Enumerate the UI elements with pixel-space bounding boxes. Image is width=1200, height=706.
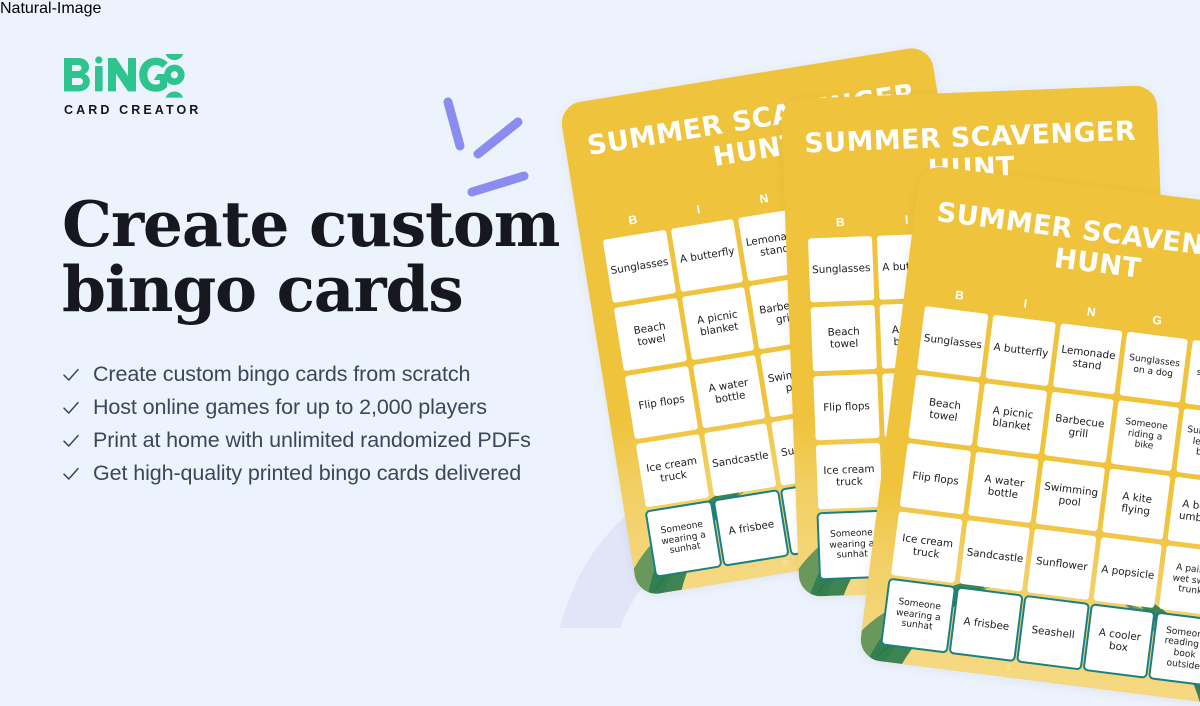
bingo-cell: Sunglasses (808, 236, 875, 302)
bingo-cell: Sandcastle (960, 520, 1031, 591)
bingo-header-letter: I (992, 293, 1060, 315)
bingo-cell: Beach towel (908, 375, 980, 447)
bingo-cell: Sunglasses (917, 306, 989, 378)
bingo-cell: A pair of wet swim trunks (1159, 545, 1200, 616)
bingo-cell: Lemonade stand (1053, 323, 1122, 394)
hero-content: CARD CREATOR Create custom bingo cards C… (62, 54, 662, 490)
page-title: Create custom bingo cards (62, 192, 582, 322)
bingo-cell: Someone wearing a sunhat (647, 502, 721, 575)
bingo-cell: A frisbee (951, 589, 1022, 660)
feature-label: Get high-quality printed bingo cards del… (93, 461, 521, 486)
bingo-cell: Someone wearing a sunhat (882, 580, 954, 652)
sparkle-icon (420, 84, 540, 204)
bingo-header-letter: B (807, 214, 874, 231)
bingo-grid: SunglassesA butterflyLemonade standSungl… (882, 306, 1200, 685)
feature-label: Create custom bingo cards from scratch (93, 362, 470, 387)
bingo-cell: Flip flops (813, 374, 880, 440)
feature-item: Print at home with unlimited randomized … (62, 424, 662, 457)
bingo-cell: Ice cream truck (891, 511, 963, 583)
bingo-cell: Sandcastle (704, 423, 776, 496)
bingo-cell: Flip flops (900, 443, 972, 515)
brand-tagline: CARD CREATOR (64, 103, 262, 117)
bingo-header-letter: I (665, 197, 733, 221)
check-icon (62, 432, 80, 450)
bingo-cell: Barbecue grill (1044, 392, 1113, 463)
bingo-cell: Someone reading a book outside (1151, 614, 1200, 685)
bingo-card-front: SUMMER SCAVENGER HUNT BINGO SunglassesA … (858, 164, 1200, 705)
bingo-cell: Someone with sunscreen on their nose (1185, 340, 1200, 411)
feature-label: Host online games for up to 2,000 player… (93, 395, 487, 420)
bingo-cell: A picnic blanket (977, 383, 1048, 454)
bingo-cell: A popsicle (1093, 537, 1162, 608)
feature-label: Print at home with unlimited randomized … (93, 428, 531, 453)
bingo-cell: Ice cream truck (816, 443, 883, 509)
bingo-cell: Swimming pool (1036, 460, 1105, 531)
bingo-cell: A frisbee (715, 491, 787, 564)
check-icon (62, 399, 80, 417)
bingo-cell: A water bottle (693, 355, 765, 428)
bingo-header-letter: O (1189, 318, 1200, 340)
bingo-cell: A picnic blanket (682, 287, 754, 360)
bingo-cell: A beach umbrella (1168, 477, 1200, 548)
feature-list: Create custom bingo cards from scratchHo… (62, 358, 662, 490)
bingo-cell: Sunglasses left on a bench (1177, 408, 1200, 479)
bingo-cell: A kite flying (1102, 469, 1171, 540)
headline-line-2: bingo cards (62, 257, 582, 322)
bingo-cell: A butterfly (671, 219, 743, 292)
check-icon (62, 366, 80, 384)
bingo-header-letter: N (1058, 301, 1126, 323)
bingo-cell: A water bottle (968, 452, 1039, 523)
bingo-cell: Beach towel (811, 305, 878, 371)
bingo-cell: A cooler box (1085, 605, 1154, 676)
bingo-header-letter: G (1124, 309, 1192, 331)
brand-logo[interactable]: CARD CREATOR (62, 54, 262, 130)
bingo-wordmark-icon (62, 54, 188, 98)
bingo-header-letter: B (926, 284, 994, 306)
feature-item: Create custom bingo cards from scratch (62, 358, 662, 391)
bingo-cell: A butterfly (986, 315, 1057, 386)
bingo-cell: Someone riding a bike (1111, 400, 1180, 471)
bingo-cell: Sunglasses on a dog (1119, 332, 1188, 403)
feature-item: Host online games for up to 2,000 player… (62, 391, 662, 424)
feature-item: Get high-quality printed bingo cards del… (62, 457, 662, 490)
bingo-cell: Seashell (1019, 597, 1088, 668)
check-icon (62, 465, 80, 483)
bingo-cell: Sunflower (1027, 529, 1096, 600)
